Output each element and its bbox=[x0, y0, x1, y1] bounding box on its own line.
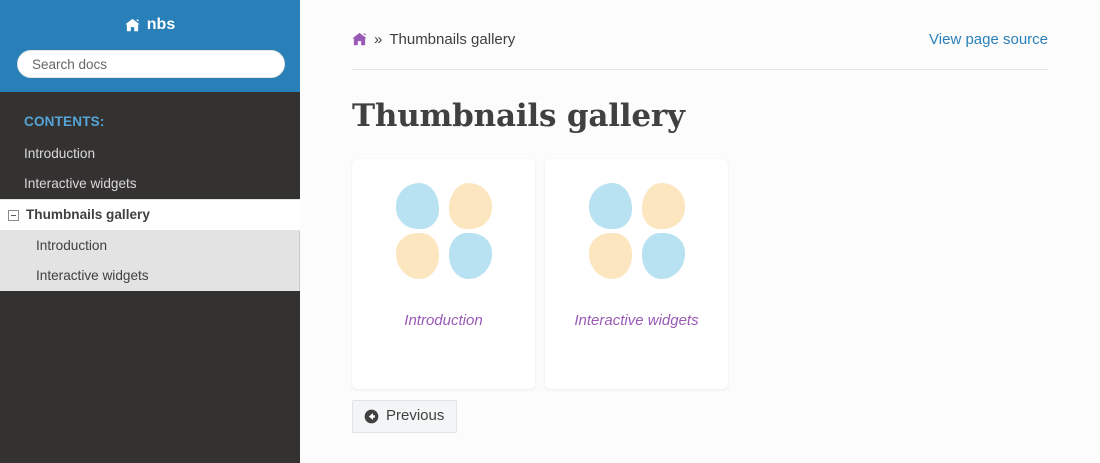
petal-bottom-left bbox=[589, 233, 632, 279]
sidebar: nbs CONTENTS: Introduction Interactive w… bbox=[0, 0, 300, 463]
sidebar-subnav-container: Introduction Interactive widgets bbox=[0, 231, 300, 291]
sidebar-subitem-introduction[interactable]: Introduction bbox=[0, 231, 299, 261]
sidebar-item-thumbnails-gallery[interactable]: Thumbnails gallery bbox=[0, 199, 300, 231]
nav-caption: CONTENTS: bbox=[0, 92, 300, 139]
petal-bottom-left bbox=[396, 233, 439, 279]
petal-bottom-right bbox=[642, 233, 685, 279]
search-input[interactable] bbox=[17, 50, 285, 78]
sidebar-subitem-interactive-widgets[interactable]: Interactive widgets bbox=[0, 261, 299, 291]
brand-label: nbs bbox=[147, 16, 175, 34]
sidebar-subnav: Introduction Interactive widgets bbox=[0, 231, 300, 291]
sidebar-subitem-introduction-link[interactable]: Introduction bbox=[0, 231, 299, 261]
petal-top-left bbox=[396, 183, 439, 229]
page-title: Thumbnails gallery bbox=[352, 98, 1048, 134]
view-page-source-link[interactable]: View page source bbox=[929, 31, 1048, 48]
sidebar-item-introduction[interactable]: Introduction bbox=[0, 139, 300, 169]
thumbnail-caption: Interactive widgets bbox=[566, 312, 706, 330]
document-body: Thumbnails gallery Introduction bbox=[300, 98, 1100, 389]
sidebar-item-introduction-link[interactable]: Introduction bbox=[0, 139, 300, 169]
four-petal-flower-icon bbox=[396, 183, 492, 279]
sidebar-nav: Introduction Interactive widgets Thumbna… bbox=[0, 139, 300, 291]
breadcrumb: » Thumbnails gallery View page source bbox=[352, 28, 1048, 50]
search-form[interactable] bbox=[16, 50, 284, 78]
main-content: » Thumbnails gallery View page source Th… bbox=[300, 0, 1100, 463]
breadcrumb-separator: » bbox=[373, 31, 383, 48]
sidebar-subitem-interactive-widgets-link[interactable]: Interactive widgets bbox=[0, 261, 299, 291]
footer-navigation: Previous bbox=[300, 400, 1100, 433]
petal-bottom-right bbox=[449, 233, 492, 279]
breadcrumb-divider bbox=[352, 69, 1048, 70]
previous-button[interactable]: Previous bbox=[352, 400, 457, 433]
sidebar-item-thumbnails-gallery-link[interactable]: Thumbnails gallery bbox=[0, 200, 300, 230]
home-icon bbox=[125, 18, 140, 32]
sidebar-item-thumbnails-gallery-label: Thumbnails gallery bbox=[26, 207, 150, 223]
petal-top-left bbox=[589, 183, 632, 229]
breadcrumb-wrap: » Thumbnails gallery View page source bbox=[300, 0, 1100, 50]
sidebar-header: nbs bbox=[0, 0, 300, 92]
thumbnail-card[interactable]: Introduction bbox=[352, 159, 535, 389]
sidebar-item-interactive-widgets-link[interactable]: Interactive widgets bbox=[0, 169, 300, 199]
home-icon[interactable] bbox=[352, 32, 367, 46]
petal-top-right bbox=[449, 183, 492, 229]
page-root: nbs CONTENTS: Introduction Interactive w… bbox=[0, 0, 1100, 463]
minus-square-icon[interactable] bbox=[8, 210, 19, 221]
breadcrumb-trail: » Thumbnails gallery bbox=[352, 31, 515, 48]
arrow-circle-left-icon bbox=[364, 409, 379, 424]
thumbnail-card[interactable]: Interactive widgets bbox=[545, 159, 728, 389]
brand-link[interactable]: nbs bbox=[16, 14, 284, 34]
previous-button-label: Previous bbox=[386, 407, 444, 425]
four-petal-flower-icon bbox=[589, 183, 685, 279]
breadcrumb-current: Thumbnails gallery bbox=[389, 31, 515, 48]
sidebar-item-interactive-widgets[interactable]: Interactive widgets bbox=[0, 169, 300, 199]
petal-top-right bbox=[642, 183, 685, 229]
thumbnail-gallery: Introduction Interactive widgets bbox=[352, 159, 1048, 389]
thumbnail-caption: Introduction bbox=[396, 312, 490, 330]
